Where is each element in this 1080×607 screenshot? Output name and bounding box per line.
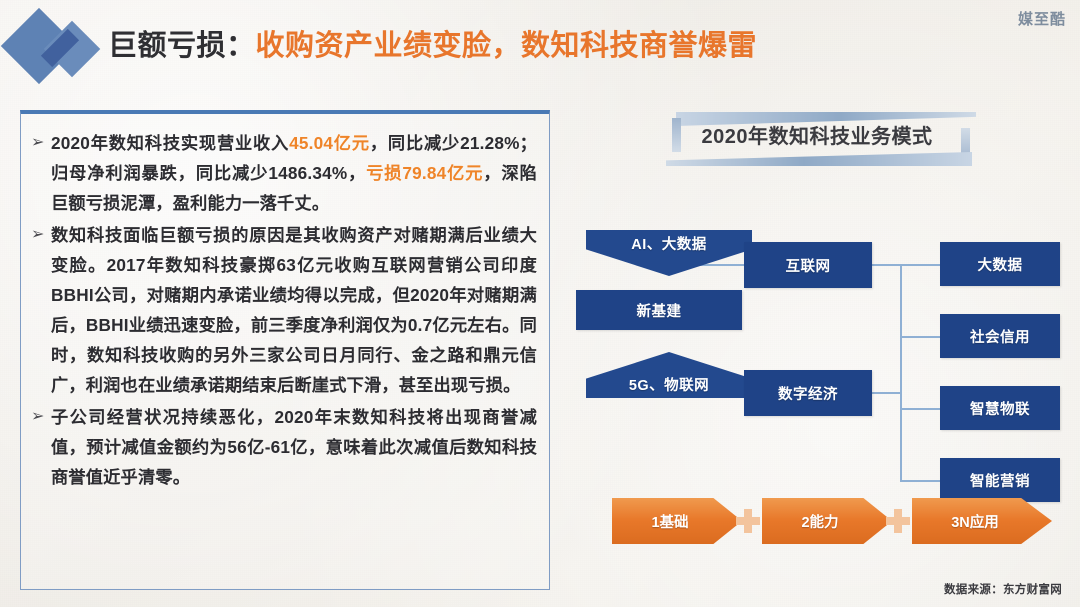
diagram-node-5g-iot-label: 5G、物联网	[629, 374, 709, 395]
diagram-node-digital-economy-label: 数字经济	[778, 383, 838, 404]
diagram-title-label: 2020年数知科技业务模式	[684, 120, 950, 149]
bullet-text-3: 子公司经营状况持续恶化，2020年末数知科技将出现商誉减值，预计减值金额约为56…	[51, 402, 537, 492]
flow-step-applications-label: 3N应用	[951, 511, 999, 532]
diagram-title-banner: 2020年数知科技业务模式	[656, 112, 976, 164]
connector-bus-to-marketing	[900, 480, 940, 482]
connector-bus-to-bigdata	[900, 264, 940, 266]
bullet-text-2: 数知科技面临巨额亏损的原因是其收购资产对赌期满后业绩大变脸。2017年数知科技豪…	[51, 220, 537, 400]
source-note: 数据来源：东方财富网	[944, 581, 1062, 597]
flow-step-foundation[interactable]: 1基础	[612, 498, 742, 544]
slide-canvas: 巨额亏损：收购资产业绩变脸，数知科技商誉爆雷 媒至酷 ➢ 2020年数知科技实现…	[0, 0, 1080, 607]
process-flow-strip: 1基础 2能力 3N应用	[612, 498, 1062, 550]
page-title: 巨额亏损：收购资产业绩变脸，数知科技商誉爆雷	[108, 22, 757, 64]
slide-header: 巨额亏损：收购资产业绩变脸，数知科技商誉爆雷 媒至酷	[0, 0, 1080, 96]
flow-step-capability[interactable]: 2能力	[762, 498, 892, 544]
bullet-marker-icon: ➢	[31, 402, 51, 432]
page-title-prefix: 巨额亏损：	[108, 30, 256, 62]
diagram-node-smart-iot-label: 智慧物联	[970, 398, 1030, 419]
diagram-node-internet-label: 互联网	[786, 255, 831, 276]
bullet-text-1: 2020年数知科技实现营业收入45.04亿元，同比减少21.28%；归母净利润暴…	[51, 128, 537, 218]
diagram-node-bigdata[interactable]: 大数据	[940, 242, 1060, 286]
double-diamond-logo-icon	[8, 12, 112, 88]
banner-bracket-left	[672, 118, 681, 152]
diagram-node-social-credit[interactable]: 社会信用	[940, 314, 1060, 358]
diagram-node-5g-iot[interactable]: 5G、物联网	[586, 352, 752, 398]
diagram-node-smart-marketing-label: 智能营销	[970, 470, 1030, 491]
list-item: ➢ 2020年数知科技实现营业收入45.04亿元，同比减少21.28%；归母净利…	[31, 128, 537, 218]
bullet-1-seg-1: 45.04亿元	[289, 133, 370, 153]
bullet-1-seg-3: 亏损79.84亿元	[366, 163, 483, 183]
diagram-node-ai-bigdata-label: AI、大数据	[631, 233, 707, 254]
diagram-node-digital-economy[interactable]: 数字经济	[744, 370, 872, 416]
diagram-node-bigdata-label: 大数据	[978, 254, 1023, 275]
bullet-marker-icon: ➢	[31, 220, 51, 250]
diagram-node-new-infrastructure-label: 新基建	[637, 300, 682, 321]
summary-text-panel: ➢ 2020年数知科技实现营业收入45.04亿元，同比减少21.28%；归母净利…	[20, 110, 550, 590]
flow-step-applications[interactable]: 3N应用	[912, 498, 1052, 544]
list-item: ➢ 数知科技面临巨额亏损的原因是其收购资产对赌期满后业绩大变脸。2017年数知科…	[31, 220, 537, 400]
diagram-node-ai-bigdata[interactable]: AI、大数据	[586, 230, 752, 276]
page-title-main: 收购资产业绩变脸，数知科技商誉爆雷	[256, 30, 758, 62]
connector-internet-out	[870, 264, 902, 266]
diagram-node-smart-iot[interactable]: 智慧物联	[940, 386, 1060, 430]
bullet-1-seg-0: 2020年数知科技实现营业收入	[51, 133, 289, 153]
diagram-node-social-credit-label: 社会信用	[970, 326, 1030, 347]
banner-swoosh-bottom	[666, 152, 972, 166]
plus-icon	[886, 509, 910, 533]
connector-digital-out	[870, 392, 902, 394]
connector-bus-to-credit	[900, 336, 940, 338]
flow-step-foundation-label: 1基础	[651, 511, 688, 532]
connector-bus-to-iot	[900, 408, 940, 410]
connector-vertical-bus	[900, 264, 902, 480]
diagram-node-internet[interactable]: 互联网	[744, 242, 872, 288]
flow-step-capability-label: 2能力	[801, 511, 838, 532]
list-item: ➢ 子公司经营状况持续恶化，2020年末数知科技将出现商誉减值，预计减值金额约为…	[31, 402, 537, 492]
plus-icon	[736, 509, 760, 533]
bullet-marker-icon: ➢	[31, 128, 51, 158]
site-watermark-logo: 媒至酷	[1018, 8, 1066, 29]
diagram-node-new-infrastructure[interactable]: 新基建	[576, 290, 742, 330]
diagram-node-smart-marketing[interactable]: 智能营销	[940, 458, 1060, 502]
